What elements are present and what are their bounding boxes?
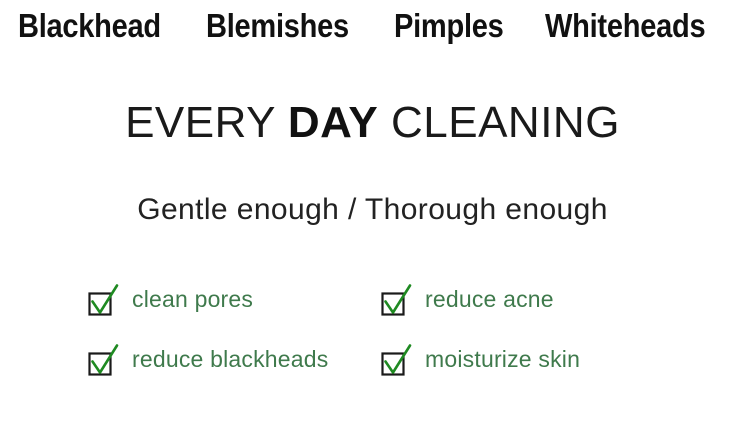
page-subtitle: Gentle enough / Thorough enough [0,192,745,228]
checkbox-checked-icon [86,282,120,316]
keyword-blackhead: Blackhead [18,9,161,43]
list-item: reduce acne [379,282,672,316]
headline-part-one: EVERY [125,98,288,147]
keyword-whiteheads: Whiteheads [545,9,705,43]
headline-emphasis: DAY [288,98,378,147]
keyword-bar: Blackhead Blemishes Pimples Whiteheads [0,0,745,56]
checkbox-checked-icon [86,342,120,376]
benefits-list: clean pores reduce acne reduce blackhead… [86,282,686,376]
checkbox-checked-icon [379,342,413,376]
list-item: moisturize skin [379,342,672,376]
keyword-pimples: Pimples [394,9,504,43]
checkbox-checked-icon [379,282,413,316]
list-item: clean pores [86,282,379,316]
list-item: reduce blackheads [86,342,379,376]
benefit-label: reduce blackheads [132,346,328,372]
promo-banner: Blackhead Blemishes Pimples Whiteheads E… [0,0,745,428]
benefit-label: moisturize skin [425,346,580,372]
benefit-label: clean pores [132,286,253,312]
page-title: EVERY DAY CLEANING [0,98,745,148]
benefit-label: reduce acne [425,286,554,312]
keyword-blemishes: Blemishes [206,9,349,43]
headline-part-two: CLEANING [378,98,620,147]
